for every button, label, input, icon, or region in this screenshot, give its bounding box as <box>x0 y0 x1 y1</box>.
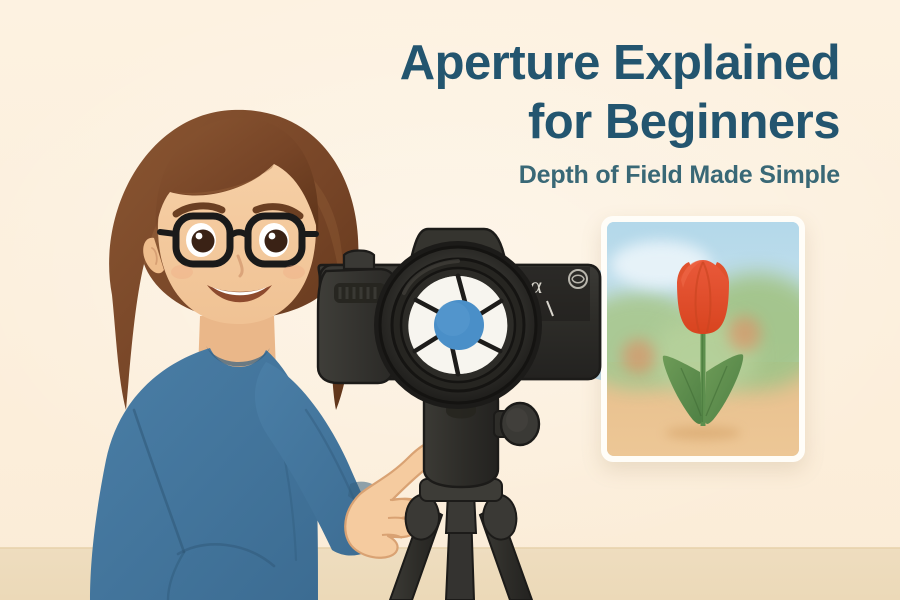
photo-preview-image <box>607 222 799 456</box>
aperture-blades <box>408 276 507 374</box>
illustration-canvas: Aperture Explained for Beginners Depth o… <box>0 0 900 600</box>
tripod-legs <box>390 493 532 600</box>
photo-preview-panel[interactable] <box>601 216 805 462</box>
photo-tulip <box>607 222 799 456</box>
tulip-bloom <box>677 260 729 334</box>
tripod-knob[interactable] <box>494 403 539 445</box>
eye-left <box>186 223 216 257</box>
cheek-blush-right <box>283 265 305 279</box>
tulip-leaf-left <box>663 356 702 424</box>
eye-right <box>259 223 289 257</box>
camera-lens <box>374 241 542 409</box>
tulip-leaf-right <box>705 354 743 424</box>
cheek-blush-left <box>171 265 193 279</box>
camera-body: α 7 <box>318 229 600 409</box>
camera-on-tripod: α 7 <box>316 215 606 600</box>
